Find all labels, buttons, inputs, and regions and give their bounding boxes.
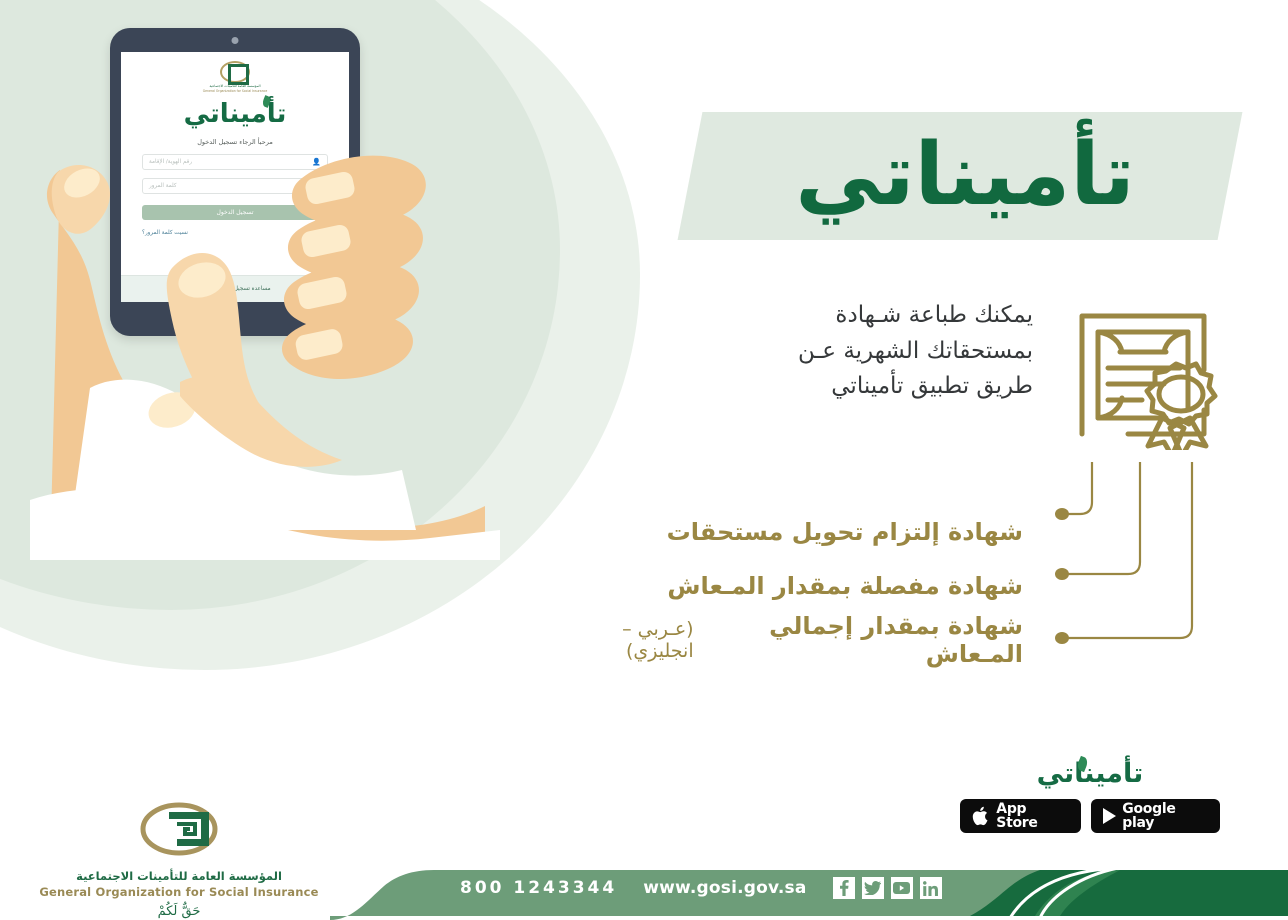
- youtube-icon[interactable]: [891, 877, 913, 899]
- store-badges: App Store Google play: [960, 799, 1220, 833]
- infographic-canvas: المؤسسة العامة للتأمينات الاجتماعية Gene…: [0, 0, 1288, 920]
- google-play-icon: [1103, 808, 1116, 824]
- hand-illustration: [30, 120, 500, 560]
- google-play-label: Google play: [1122, 802, 1208, 830]
- gosi-mark-icon: [220, 61, 250, 83]
- social-links: [833, 877, 942, 899]
- certificate-note-3: (عـربي – انجليزي): [563, 618, 694, 662]
- footer-content: 800 1243344 www.gosi.gov.sa: [460, 856, 942, 920]
- footer-phone: 800 1243344: [460, 878, 617, 898]
- app-gosi-logo: المؤسسة العامة للتأمينات الاجتماعية Gene…: [203, 61, 268, 93]
- app-logo-english: General Organization for Social Insuranc…: [203, 89, 268, 93]
- certificate-label-3: شهادة بمقدار إجمالي المـعاش: [700, 612, 1023, 668]
- gosi-logo-icon: [139, 802, 219, 860]
- body-line-2: بمستحقاتك الشهرية عـن: [613, 334, 1033, 370]
- bullet-dot-2: [1055, 568, 1069, 580]
- body-paragraph: يمكنك طباعة شـهادة بمستحقاتك الشهرية عـن…: [613, 298, 1033, 405]
- body-line-1: يمكنك طباعة شـهادة: [613, 298, 1033, 334]
- bullet-dot-1: [1055, 508, 1069, 520]
- page-title: تأميناتي: [700, 100, 1230, 250]
- certificate-list: شهادة إلتزام تحويل مستحقات شهادة مفصلة ب…: [563, 505, 1023, 667]
- app-promo-block: تأميناتي App Store Google play: [960, 758, 1220, 833]
- app-store-label: App Store: [996, 802, 1069, 830]
- bullet-dot-3: [1055, 632, 1069, 644]
- hand-fingers: [282, 156, 426, 379]
- list-item: شهادة مفصلة بمقدار المـعاش: [563, 559, 1023, 613]
- phone-camera-icon: [232, 37, 239, 44]
- connector-lines: [1040, 440, 1250, 680]
- twitter-icon[interactable]: [862, 877, 884, 899]
- body-line-3: طريق تطبيق تأميناتي: [613, 369, 1033, 405]
- apple-icon: [972, 805, 990, 827]
- google-play-badge[interactable]: Google play: [1091, 799, 1220, 833]
- certificate-label-2: شهادة مفصلة بمقدار المـعاش: [667, 572, 1023, 600]
- footer-website[interactable]: www.gosi.gov.sa: [643, 878, 806, 898]
- list-item: شهادة بمقدار إجمالي المـعاش (عـربي – انج…: [563, 613, 1023, 667]
- app-store-badge[interactable]: App Store: [960, 799, 1081, 833]
- app-promo-brand: تأميناتي: [960, 758, 1220, 789]
- certificate-icon: [1068, 300, 1218, 450]
- facebook-icon[interactable]: [833, 877, 855, 899]
- certificate-label-1: شهادة إلتزام تحويل مستحقات: [667, 518, 1023, 546]
- linkedin-icon[interactable]: [920, 877, 942, 899]
- list-item: شهادة إلتزام تحويل مستحقات: [563, 505, 1023, 559]
